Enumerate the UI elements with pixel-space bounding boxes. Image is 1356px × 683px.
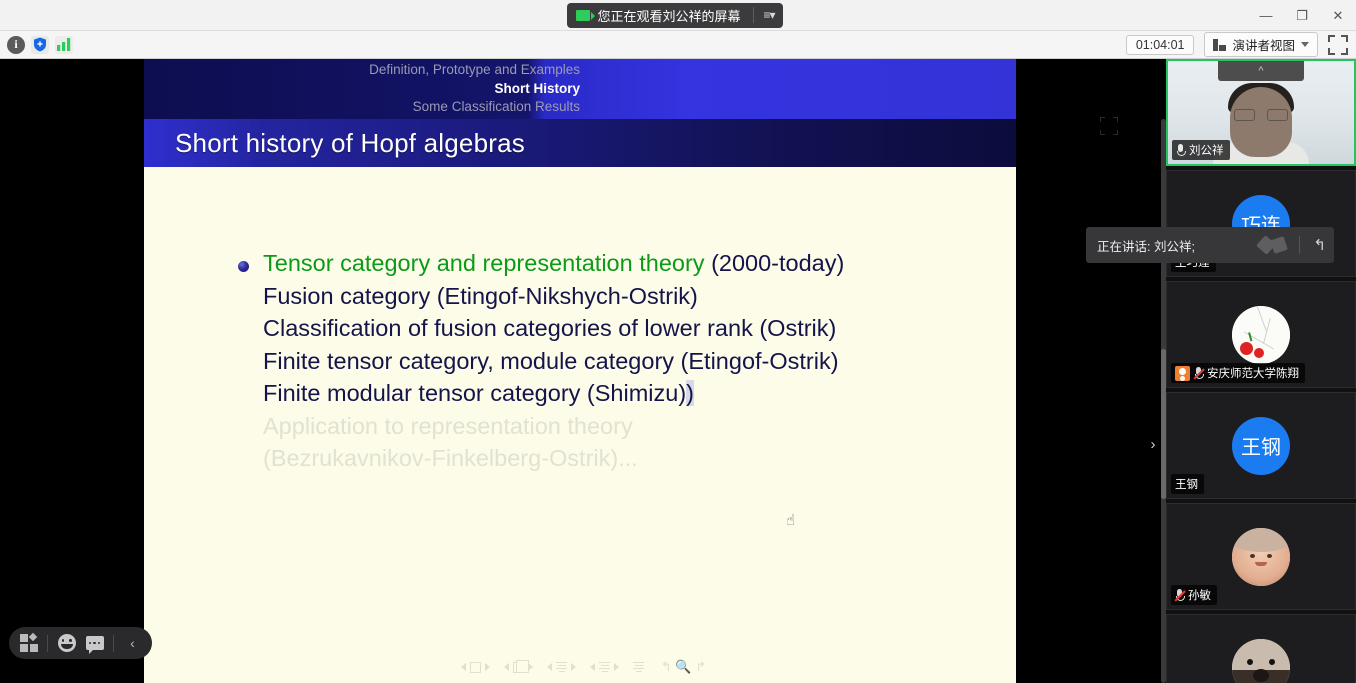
nav-item-2: Some Classification Results <box>144 98 580 117</box>
host-badge-icon <box>1175 366 1190 381</box>
speaking-banner: 正在讲话: 刘公祥; ↰ <box>1086 227 1334 263</box>
slide-line-3: Finite tensor category, module category … <box>263 345 1003 378</box>
slide-section-nav: Definition, Prototype and Examples Short… <box>144 59 1016 119</box>
slide-line-0-highlight: Tensor category and representation theor… <box>263 250 705 276</box>
meeting-stage: Definition, Prototype and Examples Short… <box>0 59 1356 683</box>
speaker-view-icon <box>1213 39 1226 51</box>
slide-line-4-text: Finite modular tensor category (Shimizu) <box>263 380 686 406</box>
view-mode-select[interactable]: 演讲者视图 <box>1204 32 1318 57</box>
screen-sharing-indicator[interactable]: 您正在观看刘公祥的屏幕 ≡▾ <box>567 3 782 28</box>
slide-body: Tensor category and representation theor… <box>144 167 1016 683</box>
signal-bars-icon[interactable] <box>55 36 73 54</box>
chevron-left-icon[interactable]: ‹ <box>123 634 142 653</box>
participant-tile-3[interactable]: 王钢 王钢 <box>1166 392 1356 499</box>
mic-muted-icon <box>1175 589 1184 602</box>
maximize-button[interactable]: ❐ <box>1284 0 1320 31</box>
bullet-sphere-icon <box>238 261 249 272</box>
slide-line-4: Finite modular tensor category (Shimizu)… <box>263 377 1003 410</box>
mic-on-icon <box>1176 144 1185 157</box>
reaction-icon[interactable] <box>1271 236 1289 254</box>
slide-text-block: Tensor category and representation theor… <box>263 247 1003 475</box>
hand-cursor-icon: ☝ <box>786 511 800 529</box>
participant-namebar-0: 刘公祥 <box>1172 140 1230 160</box>
doc-nav-group[interactable] <box>633 662 644 673</box>
toolbar-right-group: 01:04:01 演讲者视图 <box>1126 32 1356 57</box>
participant-name-3: 王钢 <box>1175 476 1198 492</box>
divider <box>1299 236 1300 254</box>
shared-screen-area[interactable]: Definition, Prototype and Examples Short… <box>0 59 1165 683</box>
participant-namebar-4: 孙敏 <box>1171 585 1217 605</box>
collapse-roster-chevron[interactable]: › <box>1146 431 1160 457</box>
participant-name-4: 孙敏 <box>1188 587 1211 603</box>
reaction-icons[interactable] <box>1259 238 1286 252</box>
frame-nav-group[interactable] <box>504 662 533 673</box>
chat-bubble-icon[interactable] <box>85 634 104 653</box>
participant-tile-0[interactable]: ^ 刘公祥 <box>1166 59 1356 166</box>
participant-tile-5[interactable]: ⌄ <box>1166 614 1356 683</box>
fullscreen-button[interactable] <box>1328 35 1348 55</box>
window-titlebar: 您正在观看刘公祥的屏幕 ≡▾ — ❐ ✕ <box>0 0 1356 31</box>
participant-roster[interactable]: ^ 刘公祥 巧连 王巧莲 <box>1166 59 1356 683</box>
reply-arrow-icon[interactable]: ↰ <box>1313 236 1326 254</box>
slide-frame-title: Short history of Hopf algebras <box>144 119 1016 167</box>
slide-line-0-suffix: (2000-today) <box>705 250 845 276</box>
subsection-nav-group[interactable] <box>547 662 576 673</box>
participant-name-0: 刘公祥 <box>1189 142 1224 158</box>
participant-tile-4[interactable]: 孙敏 <box>1166 503 1356 610</box>
avatar: 王钢 <box>1232 417 1290 475</box>
sharing-label: 您正在观看刘公祥的屏幕 <box>597 6 740 25</box>
presentation-slide: Definition, Prototype and Examples Short… <box>144 59 1016 683</box>
divider <box>47 635 48 652</box>
slide-nav-group[interactable] <box>461 662 490 673</box>
avatar <box>1232 639 1290 683</box>
info-icon[interactable]: i <box>7 36 25 54</box>
nav-item-1: Short History <box>144 80 580 99</box>
slide-line-2: Classification of fusion categories of l… <box>263 312 1003 345</box>
screen-share-icon <box>576 10 590 21</box>
close-button[interactable]: ✕ <box>1320 0 1356 31</box>
minimize-button[interactable]: — <box>1248 0 1284 31</box>
slide-line-4-selection: ) <box>686 380 694 406</box>
chevron-down-icon <box>1301 42 1309 47</box>
back-search-forward-group[interactable]: ↰ 🔍 ↱ <box>661 659 706 675</box>
mic-muted-icon <box>1194 367 1203 380</box>
slide-line-0: Tensor category and representation theor… <box>263 247 1003 280</box>
slide-line-5: Application to representation theory <box>263 410 1003 443</box>
meeting-toolbar: i 01:04:01 演讲者视图 <box>0 31 1356 59</box>
more-menu-icon[interactable]: ≡▾ <box>763 8 774 22</box>
slide-line-1: Fusion category (Etingof-Nikshych-Ostrik… <box>263 280 1003 313</box>
apps-grid-icon[interactable] <box>19 634 38 653</box>
divider <box>113 635 114 652</box>
laptop-icon: ^ <box>1218 61 1304 81</box>
expand-icon[interactable] <box>1100 117 1118 135</box>
view-mode-label: 演讲者视图 <box>1232 35 1295 54</box>
speaking-label: 正在讲话: 刘公祥; <box>1097 236 1195 255</box>
avatar <box>1232 306 1290 364</box>
participant-tile-2[interactable]: 安庆师范大学陈翔 <box>1166 281 1356 388</box>
beamer-navigation-bar[interactable]: ↰ 🔍 ↱ <box>144 657 1016 677</box>
floating-toolbar: ‹ <box>9 627 152 659</box>
window-controls: — ❐ ✕ <box>1248 0 1356 31</box>
participant-namebar-2: 安庆师范大学陈翔 <box>1171 363 1305 383</box>
toolbar-left-group: i <box>0 36 73 54</box>
participant-namebar-3: 王钢 <box>1171 474 1204 494</box>
slide-line-6: (Bezrukavnikov-Finkelberg-Ostrik)... <box>263 442 1003 475</box>
participant-name-2: 安庆师范大学陈翔 <box>1207 365 1299 381</box>
avatar <box>1232 528 1290 586</box>
shield-icon[interactable] <box>31 36 49 54</box>
nav-item-0: Definition, Prototype and Examples <box>144 61 580 80</box>
slide-title: Short history of Hopf algebras <box>144 128 525 159</box>
meeting-timer: 01:04:01 <box>1126 35 1195 55</box>
section-nav-group[interactable] <box>590 662 619 673</box>
emoji-smiley-icon[interactable] <box>57 634 76 653</box>
divider <box>753 7 754 23</box>
